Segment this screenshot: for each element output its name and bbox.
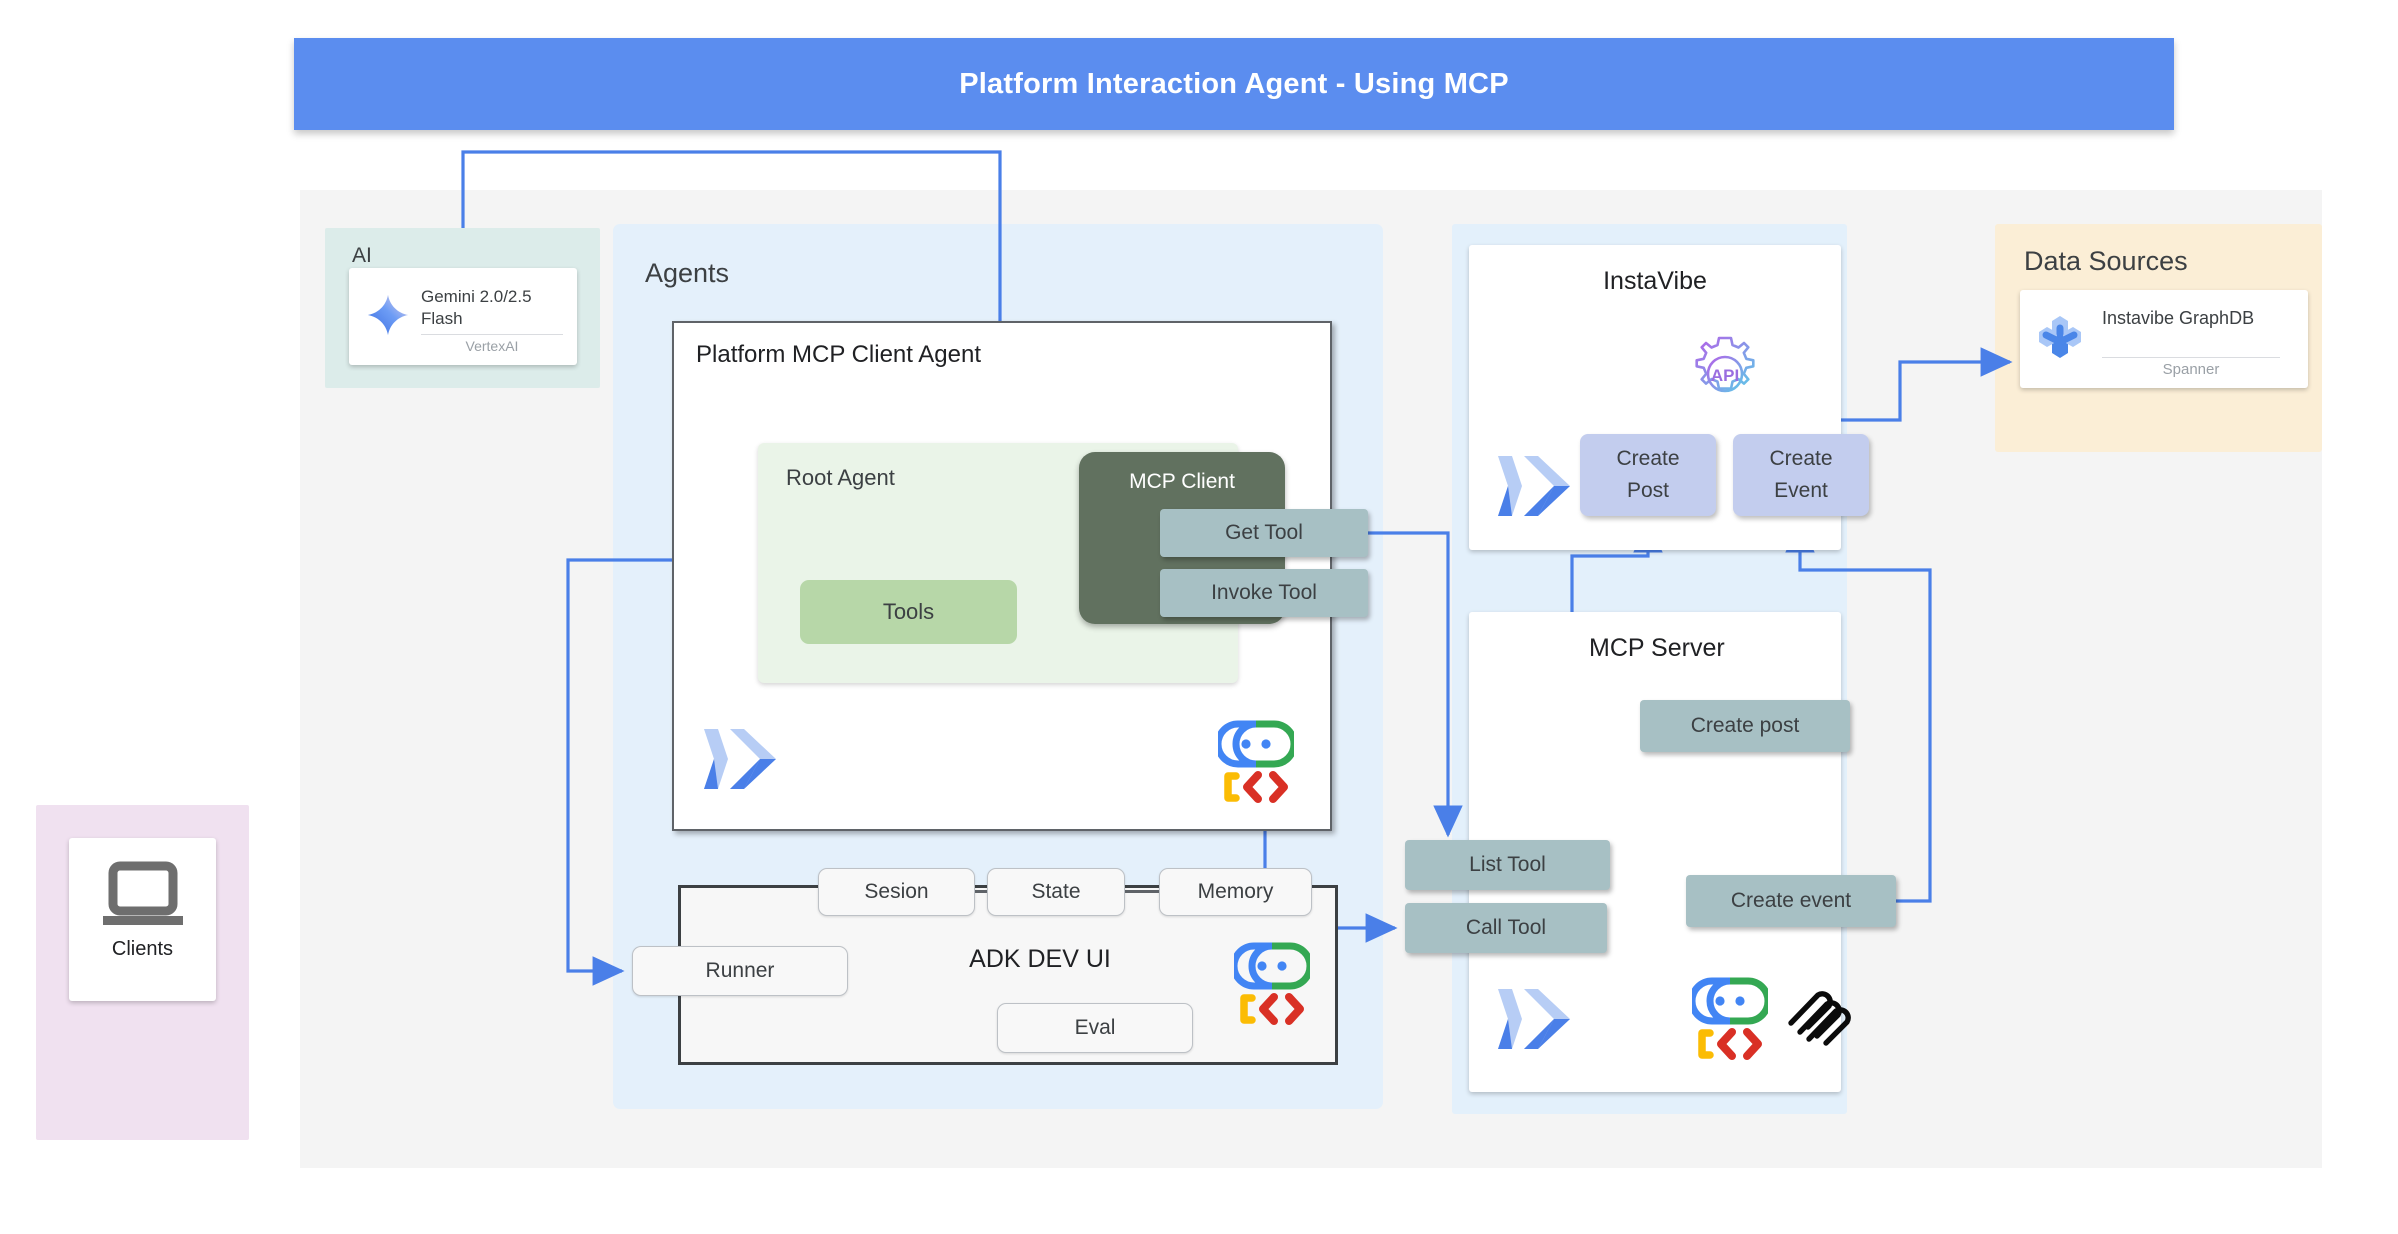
- card-clients[interactable]: Clients: [69, 838, 216, 1001]
- chip-invoke-tool[interactable]: Invoke Tool: [1160, 569, 1368, 617]
- cloud-run-icon: [698, 725, 780, 793]
- mcp-logo-icon: [1778, 975, 1854, 1051]
- platform-mcp-client-agent-title: Platform MCP Client Agent: [696, 341, 981, 369]
- pill-sesion[interactable]: Sesion: [818, 868, 975, 916]
- pill-eval[interactable]: Eval: [997, 1003, 1193, 1053]
- adk-logo-icon: [1218, 718, 1294, 804]
- chip-mcp-create-post[interactable]: Create post: [1640, 700, 1850, 752]
- diagram-title: Platform Interaction Agent - Using MCP: [959, 68, 1509, 101]
- group-label-data-sources: Data Sources: [2024, 246, 2188, 277]
- chip-call-tool[interactable]: Call Tool: [1405, 903, 1607, 953]
- chip-mcp-create-event[interactable]: Create event: [1686, 875, 1896, 927]
- cloud-run-icon: [1492, 452, 1574, 520]
- mcp-client-title: MCP Client: [1079, 470, 1285, 494]
- pill-connector: [975, 890, 987, 893]
- diagram-canvas: Platform Interaction Agent - Using MCP A…: [0, 0, 2398, 1234]
- chip-create-event-line2: Event: [1774, 475, 1828, 507]
- card-instavibe-graphdb[interactable]: Instavibe GraphDB Spanner: [2020, 290, 2308, 388]
- group-label-ai: AI: [352, 244, 372, 268]
- pill-connector: [1125, 890, 1159, 893]
- clients-label: Clients: [69, 938, 216, 961]
- adk-logo-icon: [1692, 975, 1768, 1061]
- instavibe-title: InstaVibe: [1469, 267, 1841, 296]
- gemini-card-subtitle: VertexAI: [421, 338, 563, 354]
- gemini-card-name: Gemini 2.0/2.5 Flash: [421, 286, 563, 330]
- card-divider: [2102, 357, 2280, 358]
- group-label-agents: Agents: [645, 258, 729, 289]
- api-gear-icon: API: [1684, 333, 1766, 415]
- chip-create-event-line1: Create: [1769, 443, 1832, 475]
- graphdb-card-name: Instavibe GraphDB: [2102, 307, 2280, 330]
- gemini-spark-icon: [365, 292, 411, 338]
- graphdb-card-subtitle: Spanner: [2102, 361, 2280, 378]
- svg-text:API: API: [1711, 366, 1739, 385]
- chip-create-event[interactable]: Create Event: [1733, 434, 1869, 516]
- cloud-run-icon: [1492, 985, 1574, 1053]
- chip-create-post-line1: Create: [1616, 443, 1679, 475]
- pill-state[interactable]: State: [987, 868, 1125, 916]
- pill-runner[interactable]: Runner: [632, 946, 848, 996]
- chip-create-post[interactable]: Create Post: [1580, 434, 1716, 516]
- card-divider: [421, 334, 563, 335]
- diagram-title-bar: Platform Interaction Agent - Using MCP: [294, 38, 2174, 130]
- chip-tools[interactable]: Tools: [800, 580, 1017, 644]
- chip-create-post-line2: Post: [1627, 475, 1669, 507]
- chip-get-tool[interactable]: Get Tool: [1160, 509, 1368, 557]
- adk-dev-ui-title: ADK DEV UI: [930, 945, 1150, 974]
- card-gemini[interactable]: Gemini 2.0/2.5 Flash VertexAI: [349, 268, 577, 365]
- chip-list-tool[interactable]: List Tool: [1405, 840, 1610, 890]
- pill-memory[interactable]: Memory: [1159, 868, 1312, 916]
- adk-logo-icon: [1234, 940, 1310, 1026]
- root-agent-title: Root Agent: [786, 465, 895, 491]
- mcp-server-title: MCP Server: [1589, 634, 1725, 663]
- spanner-icon: [2034, 312, 2086, 364]
- laptop-icon: [99, 860, 187, 932]
